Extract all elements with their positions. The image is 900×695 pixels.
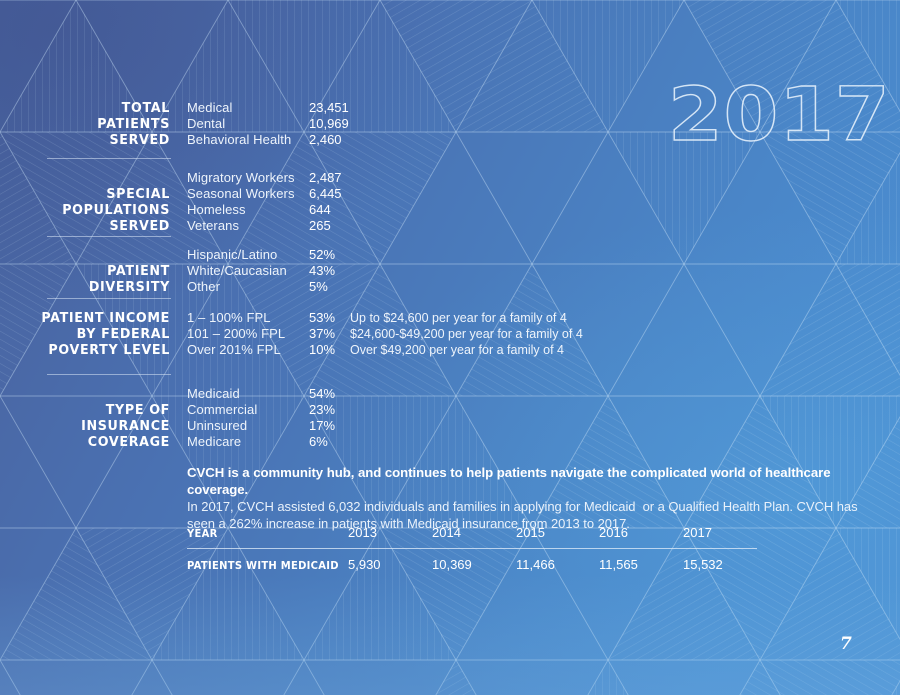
stat-row: Homeless644 bbox=[187, 202, 295, 218]
page-number: 7 bbox=[840, 634, 852, 654]
stat-value: 54% bbox=[309, 386, 335, 402]
stat-label: Behavioral Health bbox=[187, 132, 291, 148]
stat-row: Hispanic/Latino52% bbox=[187, 247, 287, 263]
table-divider bbox=[187, 548, 757, 549]
table-row-label-year: YEAR bbox=[187, 528, 218, 540]
stat-value: 37% bbox=[309, 326, 335, 342]
stat-rows: 1 – 100% FPL53%Up to $24,600 per year fo… bbox=[187, 310, 285, 358]
table-year-cell: 2015 bbox=[516, 525, 545, 540]
stat-heading-line: COVERAGE bbox=[10, 434, 170, 450]
stat-label: Seasonal Workers bbox=[187, 186, 295, 202]
section-divider bbox=[47, 158, 171, 159]
stat-heading-line: POPULATIONS bbox=[10, 202, 170, 218]
stat-row: Medicare6% bbox=[187, 434, 257, 450]
stat-block-heading: TOTALPATIENTSSERVED bbox=[10, 100, 170, 148]
stat-note: Over $49,200 per year for a family of 4 bbox=[350, 342, 564, 358]
narrative-lead: CVCH is a community hub, and continues t… bbox=[187, 464, 863, 498]
stat-block: PATIENT INCOMEBY FEDERALPOVERTY LEVEL1 –… bbox=[0, 310, 900, 358]
stat-label: Migratory Workers bbox=[187, 170, 295, 186]
stat-value: 2,487 bbox=[309, 170, 342, 186]
stat-label: Over 201% FPL bbox=[187, 342, 281, 358]
stat-rows: Medicaid54%Commercial23%Uninsured17%Medi… bbox=[187, 386, 257, 450]
stat-heading-line: PATIENT INCOME bbox=[10, 310, 170, 326]
stat-label: Hispanic/Latino bbox=[187, 247, 277, 263]
stat-label: Medicaid bbox=[187, 386, 240, 402]
stat-row: 101 – 200% FPL37%$24,600-$49,200 per yea… bbox=[187, 326, 285, 342]
table-year-cell: 2014 bbox=[432, 525, 461, 540]
stat-block: TYPE OFINSURANCECOVERAGEMedicaid54%Comme… bbox=[0, 386, 900, 450]
table-year-cell: 2013 bbox=[348, 525, 377, 540]
table-year-cell: 2016 bbox=[599, 525, 628, 540]
stat-block: SPECIALPOPULATIONSSERVEDMigratory Worker… bbox=[0, 170, 900, 234]
stat-value: 644 bbox=[309, 202, 331, 218]
stat-heading-line: INSURANCE bbox=[10, 418, 170, 434]
stat-value: 43% bbox=[309, 263, 335, 279]
table-value-cell: 11,466 bbox=[516, 557, 555, 572]
stat-row: Uninsured17% bbox=[187, 418, 257, 434]
table-value-cell: 15,532 bbox=[683, 557, 723, 572]
stat-label: Medicare bbox=[187, 434, 241, 450]
narrative-block: CVCH is a community hub, and continues t… bbox=[187, 464, 863, 532]
table-row-label-patients: PATIENTS WITH MEDICAID bbox=[187, 560, 339, 572]
stat-row: White/Caucasian43% bbox=[187, 263, 287, 279]
stat-label: Other bbox=[187, 279, 220, 295]
stat-row: Over 201% FPL10%Over $49,200 per year fo… bbox=[187, 342, 285, 358]
stat-label: 1 – 100% FPL bbox=[187, 310, 271, 326]
stat-value: 52% bbox=[309, 247, 335, 263]
section-divider bbox=[47, 298, 171, 299]
stat-label: Commercial bbox=[187, 402, 257, 418]
table-row-header: YEAR 20132014201520162017 bbox=[187, 525, 757, 548]
table-value-cell: 11,565 bbox=[599, 557, 638, 572]
stat-heading-line: SERVED bbox=[10, 132, 170, 148]
stat-rows: Migratory Workers2,487Seasonal Workers6,… bbox=[187, 170, 295, 234]
table-value-cell: 10,369 bbox=[432, 557, 472, 572]
stat-block-heading: PATIENT INCOMEBY FEDERALPOVERTY LEVEL bbox=[10, 310, 170, 358]
stat-label: White/Caucasian bbox=[187, 263, 287, 279]
section-divider bbox=[47, 236, 171, 237]
stat-value: 53% bbox=[309, 310, 335, 326]
stat-row: Migratory Workers2,487 bbox=[187, 170, 295, 186]
stat-block-heading: TYPE OFINSURANCECOVERAGE bbox=[10, 402, 170, 450]
stat-heading-line: DIVERSITY bbox=[10, 279, 170, 295]
stat-value: 23,451 bbox=[309, 100, 349, 116]
stat-value: 265 bbox=[309, 218, 331, 234]
stat-value: 2,460 bbox=[309, 132, 342, 148]
section-divider bbox=[47, 374, 171, 375]
stat-row: 1 – 100% FPL53%Up to $24,600 per year fo… bbox=[187, 310, 285, 326]
stat-heading-line: TYPE OF bbox=[10, 402, 170, 418]
stat-heading-line: PATIENT bbox=[10, 263, 170, 279]
stat-heading-line: TOTAL bbox=[10, 100, 170, 116]
stat-block-heading: PATIENTDIVERSITY bbox=[10, 263, 170, 295]
stat-value: 10,969 bbox=[309, 116, 349, 132]
table-value-cell: 5,930 bbox=[348, 557, 381, 572]
stat-block: TOTALPATIENTSSERVEDMedical23,451Dental10… bbox=[0, 100, 900, 148]
stat-rows: Hispanic/Latino52%White/Caucasian43%Othe… bbox=[187, 247, 287, 295]
stat-row: Veterans265 bbox=[187, 218, 295, 234]
stat-rows: Medical23,451Dental10,969Behavioral Heal… bbox=[187, 100, 291, 148]
stat-row: Medical23,451 bbox=[187, 100, 291, 116]
table-year-cell: 2017 bbox=[683, 525, 712, 540]
stat-block: PATIENTDIVERSITYHispanic/Latino52%White/… bbox=[0, 247, 900, 295]
stat-row: Behavioral Health2,460 bbox=[187, 132, 291, 148]
stat-row: Commercial23% bbox=[187, 402, 257, 418]
infographic-page: 2017 TOTALPATIENTSSERVEDMedical23,451Den… bbox=[0, 0, 900, 695]
stat-label: Dental bbox=[187, 116, 225, 132]
stat-label: Homeless bbox=[187, 202, 246, 218]
stat-note: Up to $24,600 per year for a family of 4 bbox=[350, 310, 567, 326]
stat-row: Dental10,969 bbox=[187, 116, 291, 132]
stat-label: Uninsured bbox=[187, 418, 247, 434]
stat-heading-line: SPECIAL bbox=[10, 186, 170, 202]
stat-label: 101 – 200% FPL bbox=[187, 326, 285, 342]
stat-row: Medicaid54% bbox=[187, 386, 257, 402]
stat-value: 6,445 bbox=[309, 186, 342, 202]
table-row-values: PATIENTS WITH MEDICAID 5,93010,36911,466… bbox=[187, 552, 757, 575]
stat-value: 6% bbox=[309, 434, 328, 450]
medicaid-trend-table: YEAR 20132014201520162017 PATIENTS WITH … bbox=[187, 525, 757, 571]
stat-block-heading: SPECIALPOPULATIONSSERVED bbox=[10, 186, 170, 234]
stat-row: Other5% bbox=[187, 279, 287, 295]
stat-label: Veterans bbox=[187, 218, 239, 234]
stat-row: Seasonal Workers6,445 bbox=[187, 186, 295, 202]
stat-value: 17% bbox=[309, 418, 335, 434]
stat-note: $24,600-$49,200 per year for a family of… bbox=[350, 326, 583, 342]
stat-value: 10% bbox=[309, 342, 335, 358]
stat-value: 5% bbox=[309, 279, 328, 295]
stat-heading-line: BY FEDERAL bbox=[10, 326, 170, 342]
stat-heading-line: SERVED bbox=[10, 218, 170, 234]
stat-heading-line: POVERTY LEVEL bbox=[10, 342, 170, 358]
stat-label: Medical bbox=[187, 100, 233, 116]
stat-value: 23% bbox=[309, 402, 335, 418]
stat-heading-line: PATIENTS bbox=[10, 116, 170, 132]
